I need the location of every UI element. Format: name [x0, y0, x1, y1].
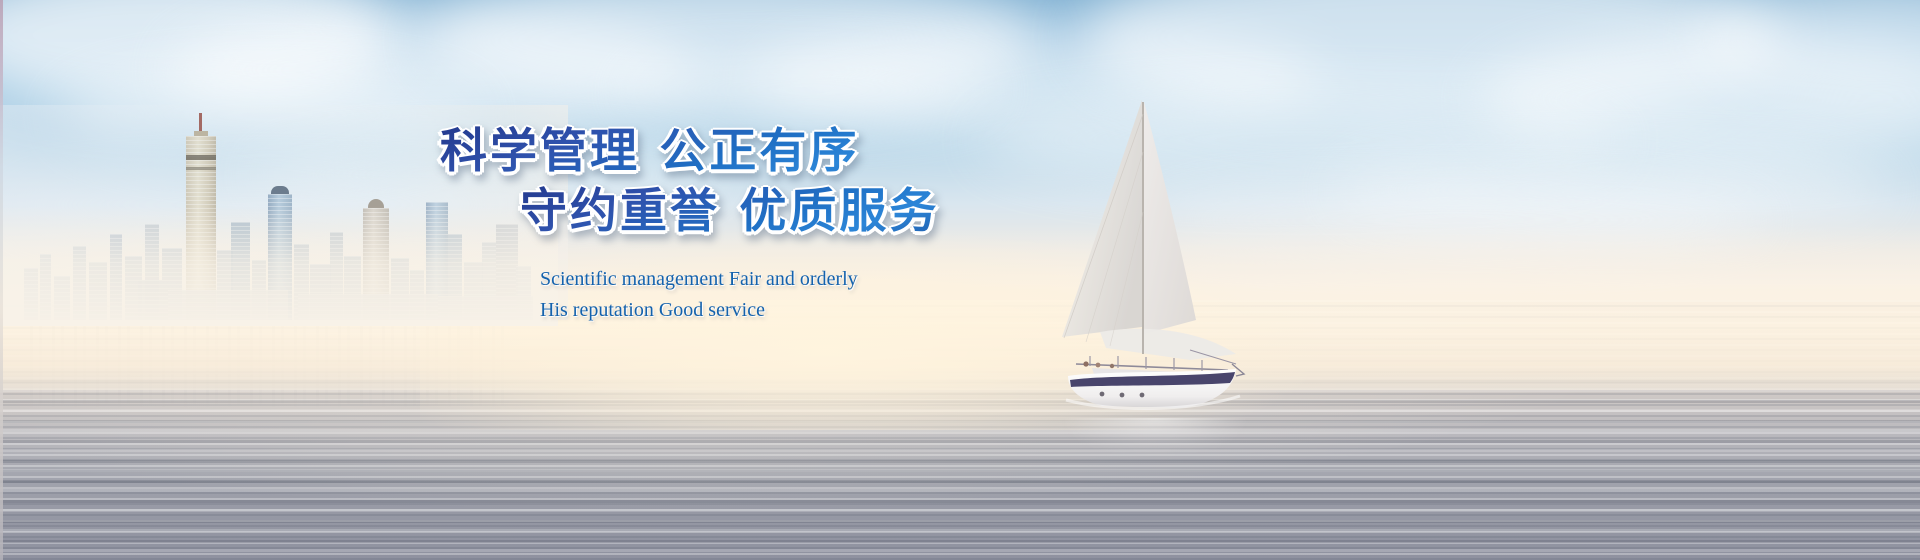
- left-edge-vignette: [0, 0, 3, 560]
- cloud-shape: [620, 55, 1000, 125]
- headline-line-2: 守约重誉 优质服务: [520, 182, 1100, 242]
- banner-image: 科学管理 公正有序 守约重誉 优质服务 Scientific managemen…: [0, 0, 1920, 560]
- headline-line-1: 科学管理 公正有序: [440, 122, 1100, 182]
- subtitle-line-1: Scientific management Fair and orderly: [540, 264, 1100, 295]
- sailboat-reflection: [1060, 418, 1250, 464]
- banner-copy: 科学管理 公正有序 守约重誉 优质服务 Scientific managemen…: [440, 122, 1100, 326]
- subtitle-line-2: His reputation Good service: [540, 295, 1100, 326]
